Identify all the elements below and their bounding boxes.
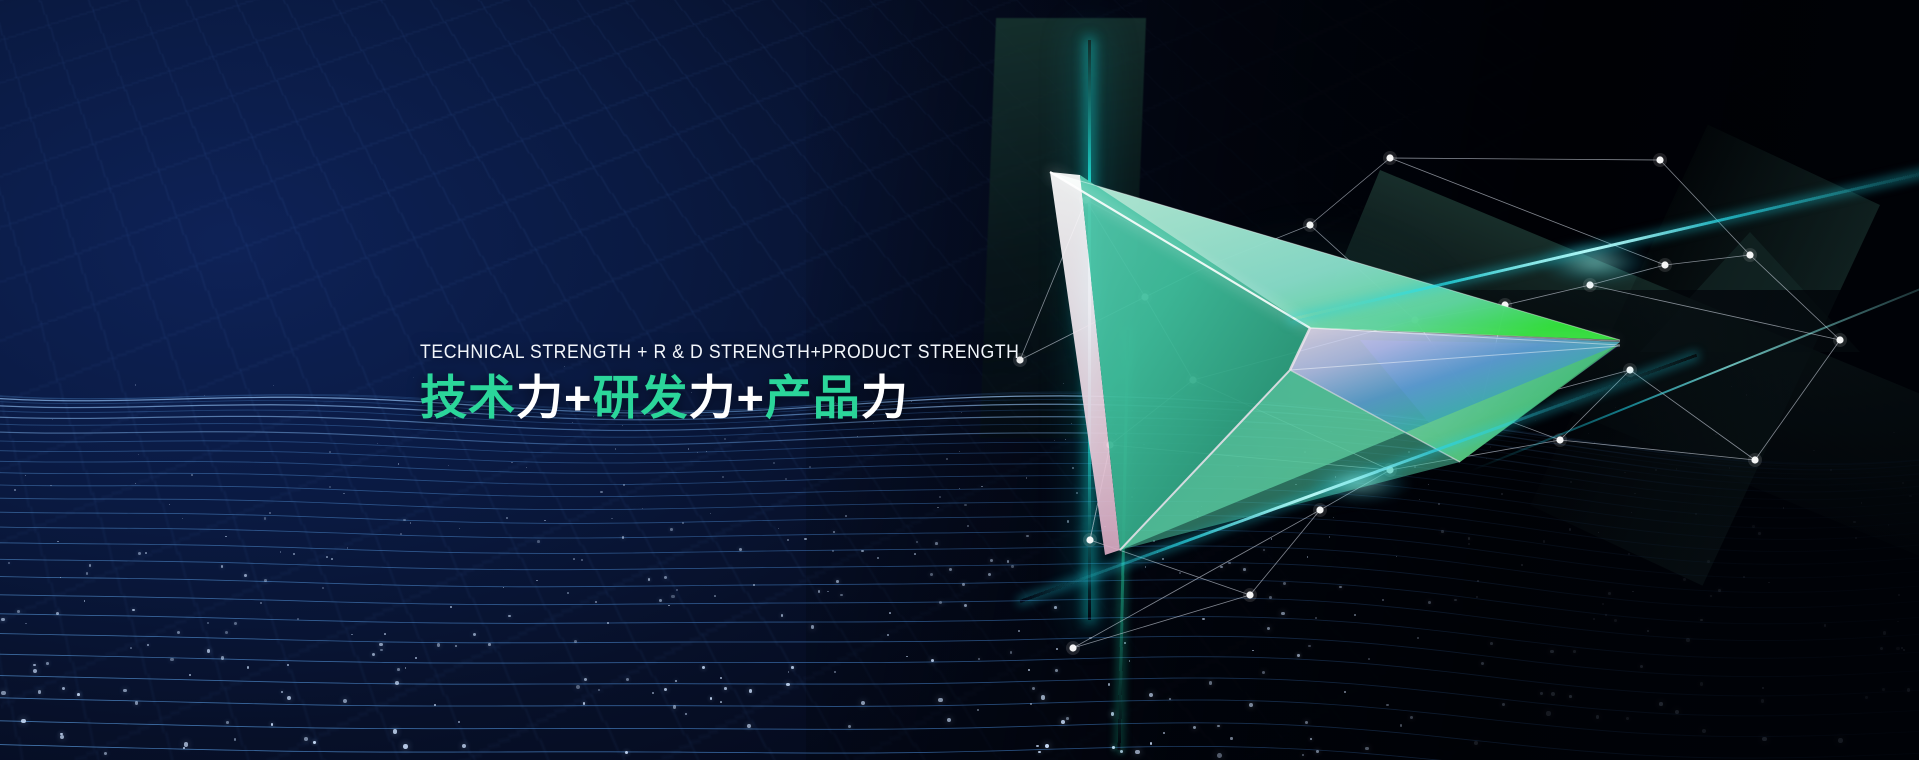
headline-chinese: 技术力+研发力+产品力 bbox=[420, 372, 1065, 424]
wave-row bbox=[0, 473, 1919, 529]
wave-row bbox=[0, 527, 1919, 578]
wave-row bbox=[0, 698, 1919, 737]
headline-chinese-part-2: + bbox=[564, 371, 592, 424]
headline-english: TECHNICAL STRENGTH + R & D STRENGTH+PROD… bbox=[420, 342, 1019, 364]
hero-banner: TECHNICAL STRENGTH + R & D STRENGTH+PROD… bbox=[0, 0, 1919, 760]
wave-crest-line bbox=[0, 432, 1919, 492]
wave-row bbox=[0, 745, 1919, 760]
headline-chinese-part-3: 研发 bbox=[592, 371, 688, 424]
wave-row bbox=[0, 512, 1919, 564]
headline-chinese-part-4: 力 bbox=[688, 371, 736, 424]
wave-row bbox=[0, 441, 1919, 500]
headline-chinese-part-7: 力 bbox=[861, 371, 909, 424]
headline-block: TECHNICAL STRENGTH + R & D STRENGTH+PROD… bbox=[420, 342, 1065, 424]
headline-chinese-part-6: 产品 bbox=[765, 371, 861, 424]
headline-chinese-part-1: 力 bbox=[516, 371, 564, 424]
wave-row bbox=[0, 654, 1919, 696]
prism-svg bbox=[1060, 130, 1620, 650]
wave-row bbox=[0, 614, 1919, 659]
wave-row bbox=[0, 432, 1919, 492]
wave-row bbox=[0, 634, 1919, 677]
headline-chinese-part-5: + bbox=[736, 371, 764, 424]
wave-row bbox=[0, 595, 1919, 641]
triangular-arrow-prism bbox=[1060, 130, 1620, 650]
wave-row bbox=[0, 676, 1919, 716]
wave-row bbox=[0, 721, 1919, 758]
headline-chinese-part-0: 技术 bbox=[420, 371, 516, 424]
wave-row bbox=[0, 543, 1919, 593]
